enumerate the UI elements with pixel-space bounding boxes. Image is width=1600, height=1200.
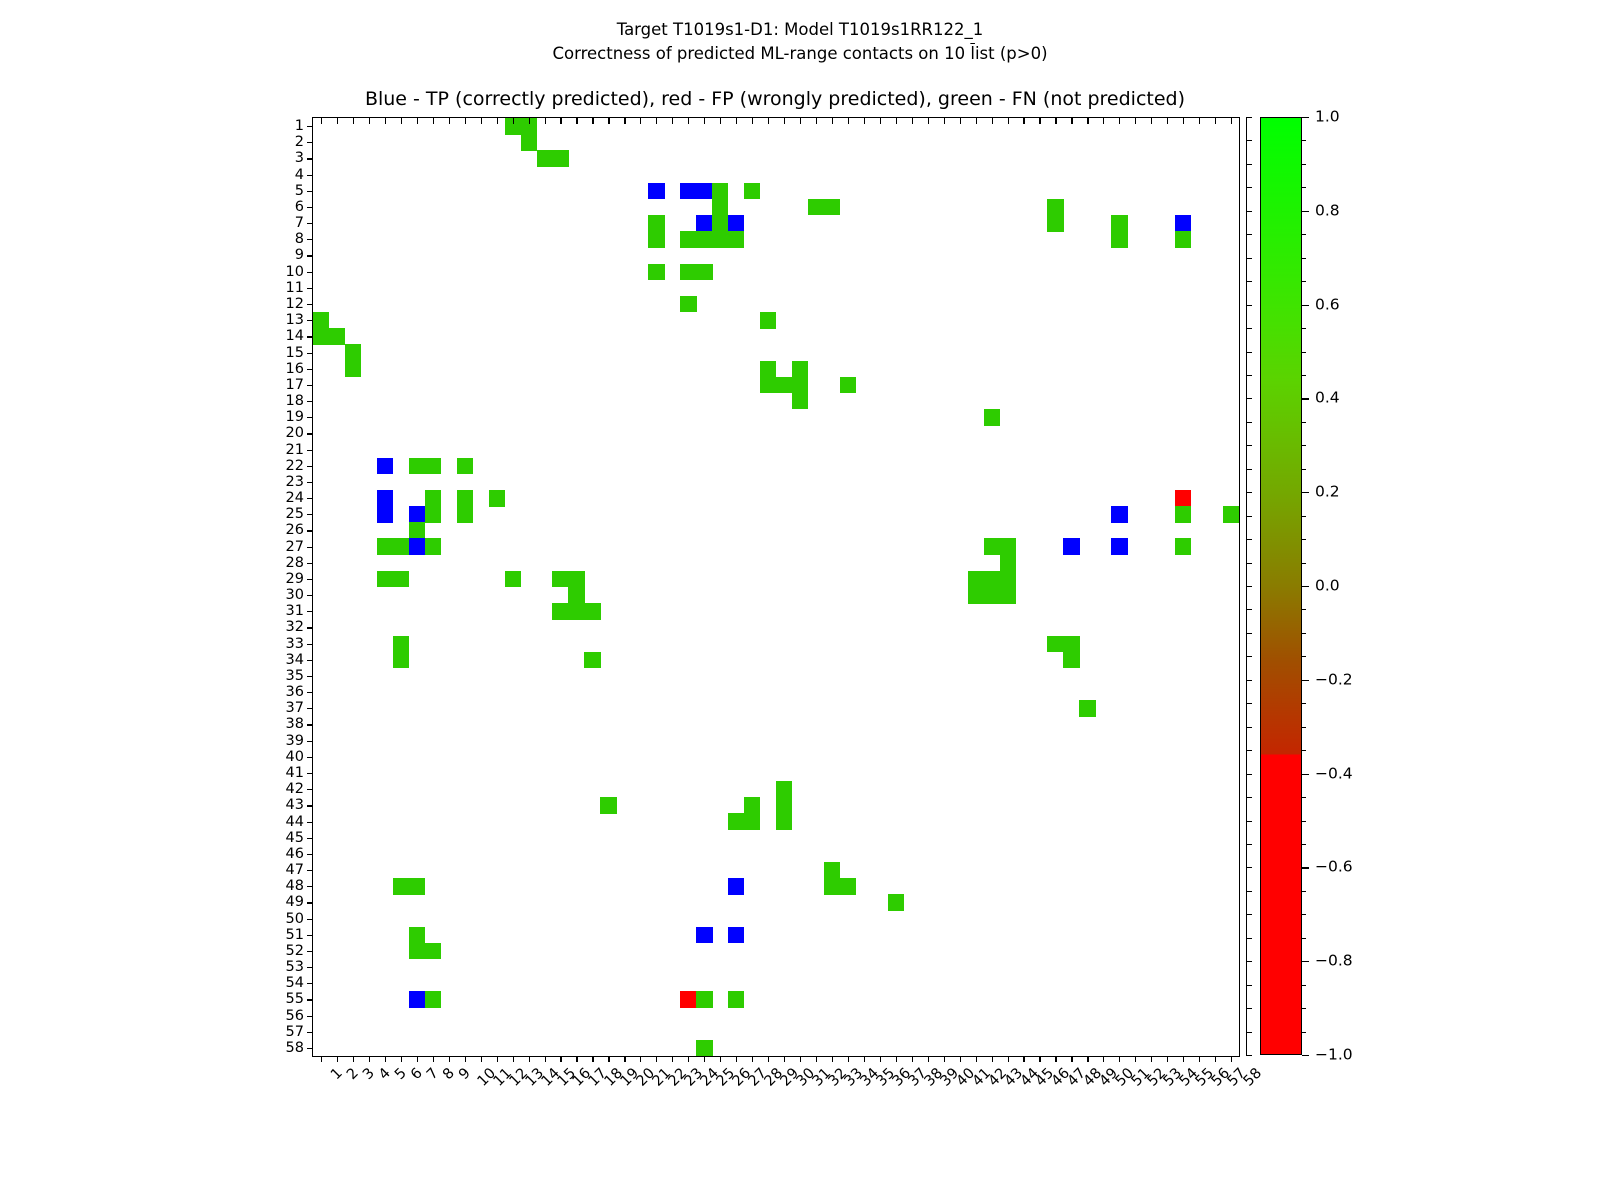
contact-cell-tp xyxy=(696,183,712,200)
contact-cell-fn xyxy=(712,199,728,216)
y-tick-label: 50 xyxy=(286,911,304,926)
contact-cell-fn xyxy=(728,813,744,830)
y-tick-label: 37 xyxy=(286,701,304,716)
contact-cell-fn xyxy=(409,522,425,539)
colorbar-minor-tick xyxy=(1302,492,1306,493)
colorbar-minor-tick xyxy=(1302,891,1306,892)
y-tick xyxy=(307,255,313,256)
x-tick xyxy=(656,1056,657,1062)
x-tick xyxy=(688,1056,689,1062)
y-tick-label: 42 xyxy=(286,782,304,797)
colorbar-minor-tick xyxy=(1302,398,1306,399)
colorbar-minor-tick xyxy=(1302,985,1306,986)
contact-cell-fn xyxy=(1175,538,1191,555)
x-tick xyxy=(1215,1056,1216,1062)
contact-cell-fn xyxy=(968,571,984,588)
contact-cell-fn xyxy=(744,183,760,200)
contact-cell-fn xyxy=(760,312,776,329)
y-tick-label: 32 xyxy=(286,620,304,635)
contact-cell-fn xyxy=(393,538,409,555)
y-tick xyxy=(307,223,313,224)
colorbar-minor-tick xyxy=(1302,633,1306,634)
contact-cell-fn xyxy=(457,458,473,475)
contact-cell-fn xyxy=(744,797,760,814)
y-tick xyxy=(307,692,313,693)
y-tick xyxy=(307,158,313,159)
y-tick xyxy=(307,239,313,240)
y-tick xyxy=(307,935,313,936)
contact-cell-fn xyxy=(568,587,584,604)
y-tick-label: 58 xyxy=(286,1041,304,1056)
contact-cell-fn xyxy=(776,813,792,830)
colorbar-minor-tick xyxy=(1302,938,1306,939)
x-tick-top xyxy=(497,118,498,124)
y-tick-label: 22 xyxy=(286,458,304,473)
colorbar-minor-tick xyxy=(1302,914,1306,915)
contact-cell-fn xyxy=(680,231,696,248)
y-tick-label: 5 xyxy=(295,184,304,199)
x-tick xyxy=(417,1056,418,1062)
x-tick-top xyxy=(864,118,865,124)
y-tick-label: 53 xyxy=(286,960,304,975)
x-tick-top xyxy=(768,118,769,124)
colorbar-minor-tick xyxy=(1302,352,1306,353)
colorbar-minor-tick xyxy=(1302,1008,1306,1009)
contact-cell-fn xyxy=(648,231,664,248)
x-tick-top xyxy=(353,118,354,124)
x-tick-top xyxy=(1023,118,1024,124)
contact-cell-fn xyxy=(425,991,441,1008)
colorbar-outer-tick xyxy=(1246,398,1252,399)
colorbar-minor-tick xyxy=(1302,469,1306,470)
y-tick xyxy=(307,660,313,661)
colorbar-outer-tick xyxy=(1246,586,1252,587)
contact-cell-fn xyxy=(792,393,808,410)
y-tick-label: 49 xyxy=(286,895,304,910)
x-tick-top xyxy=(944,118,945,124)
y-tick xyxy=(307,838,313,839)
contact-cell-fn xyxy=(457,490,473,507)
y-tick-label: 48 xyxy=(286,879,304,894)
y-tick-label: 56 xyxy=(286,1008,304,1023)
x-tick-top xyxy=(1151,118,1152,124)
y-tick-label: 46 xyxy=(286,847,304,862)
x-tick-top xyxy=(736,118,737,124)
contact-cell-tp xyxy=(377,458,393,475)
contact-cell-fn xyxy=(425,490,441,507)
y-tick xyxy=(307,142,313,143)
colorbar-minor-tick xyxy=(1302,140,1306,141)
figure-title-line2-part3: ist (p>0) xyxy=(975,44,1048,63)
y-tick xyxy=(307,999,313,1000)
contact-cell-fn xyxy=(1047,636,1063,653)
colorbar-gradient xyxy=(1260,117,1302,1055)
x-tick-top xyxy=(560,118,561,124)
contact-cell-fn xyxy=(1175,506,1191,523)
y-tick-label: 10 xyxy=(286,264,304,279)
contact-cell-fn xyxy=(1047,199,1063,216)
colorbar-outer-tick xyxy=(1246,821,1252,822)
y-tick xyxy=(307,757,313,758)
y-tick xyxy=(307,530,313,531)
colorbar-minor-tick xyxy=(1302,821,1306,822)
x-tick xyxy=(608,1056,609,1062)
contact-cell-fn xyxy=(1047,215,1063,232)
colorbar-outer-tick xyxy=(1246,914,1252,915)
figure-title-line1: Target T1019s1-D1: Model T1019s1RR122_1 xyxy=(0,18,1600,42)
contact-cell-fn xyxy=(840,878,856,895)
contact-cell-fn xyxy=(425,943,441,960)
colorbar-minor-tick xyxy=(1302,680,1306,681)
x-tick-top xyxy=(592,118,593,124)
x-tick xyxy=(337,1056,338,1062)
y-tick-label: 20 xyxy=(286,426,304,441)
x-tick xyxy=(1167,1056,1168,1062)
contact-cell-fn xyxy=(425,506,441,523)
y-tick-label: 25 xyxy=(286,507,304,522)
contact-cell-fn xyxy=(824,878,840,895)
colorbar-outer-tick xyxy=(1246,234,1252,235)
x-tick xyxy=(385,1056,386,1062)
x-tick xyxy=(1135,1056,1136,1062)
colorbar-outer-tick xyxy=(1246,774,1252,775)
y-tick-label: 7 xyxy=(295,216,304,231)
x-tick xyxy=(1055,1056,1056,1062)
y-tick-label: 28 xyxy=(286,555,304,570)
contact-cell-tp xyxy=(696,927,712,944)
colorbar-tick-label: −0.6 xyxy=(1315,860,1353,876)
colorbar-minor-tick xyxy=(1302,563,1306,564)
y-tick-label: 2 xyxy=(295,135,304,150)
x-tick xyxy=(1087,1056,1088,1062)
contact-cell-fn xyxy=(489,490,505,507)
x-tick xyxy=(592,1056,593,1062)
y-tick-label: 11 xyxy=(286,281,304,296)
y-tick xyxy=(307,886,313,887)
contact-cell-tp xyxy=(728,215,744,232)
contact-cell-tp xyxy=(1111,538,1127,555)
colorbar-outer-tick xyxy=(1246,727,1252,728)
colorbar-minor-tick xyxy=(1302,305,1306,306)
y-tick-label: 15 xyxy=(286,345,304,360)
colorbar-outer-tick xyxy=(1246,164,1252,165)
y-tick xyxy=(307,466,313,467)
colorbar-outer-tick xyxy=(1246,961,1252,962)
colorbar-minor-tick xyxy=(1302,258,1306,259)
colorbar-tick-label: −0.2 xyxy=(1315,672,1353,688)
contact-cell-fn xyxy=(505,571,521,588)
contact-cell-fn xyxy=(552,571,568,588)
contact-cell-fn xyxy=(457,506,473,523)
x-tick-label: 3 xyxy=(361,1066,378,1083)
x-tick xyxy=(1008,1056,1009,1062)
contact-cell-fn xyxy=(1063,652,1079,669)
colorbar-tick-label: 1.0 xyxy=(1315,109,1340,125)
x-tick xyxy=(912,1056,913,1062)
y-tick xyxy=(307,676,313,677)
x-tick-top xyxy=(545,118,546,124)
colorbar-minor-tick xyxy=(1302,1032,1306,1033)
y-tick xyxy=(307,320,313,321)
figure-title-line2-part1: Correctness of predicted ML-range contac… xyxy=(552,44,970,63)
contact-cell-fn xyxy=(1175,231,1191,248)
y-tick-label: 1 xyxy=(295,119,304,134)
figure-title-line2: Correctness of predicted ML-range contac… xyxy=(0,42,1600,66)
x-tick xyxy=(944,1056,945,1062)
x-tick xyxy=(433,1056,434,1062)
contact-cell-tp xyxy=(1063,538,1079,555)
x-tick-top xyxy=(1167,118,1168,124)
contact-cell-fn xyxy=(329,328,345,345)
x-tick xyxy=(321,1056,322,1062)
contact-cell-fn xyxy=(696,1040,712,1056)
colorbar-outer-tick xyxy=(1246,211,1252,212)
contact-cell-fn xyxy=(648,215,664,232)
x-tick-label: 2 xyxy=(345,1066,362,1083)
x-tick-top xyxy=(640,118,641,124)
colorbar-minor-tick xyxy=(1302,516,1306,517)
contact-cell-tp xyxy=(409,991,425,1008)
y-tick xyxy=(307,611,313,612)
contact-cell-fp xyxy=(680,991,696,1008)
contact-cell-fp xyxy=(1175,490,1191,507)
colorbar-outer-tick xyxy=(1246,633,1252,634)
x-tick xyxy=(1151,1056,1152,1062)
colorbar-tick-label: −0.8 xyxy=(1315,953,1353,969)
contact-cell-fn xyxy=(393,878,409,895)
colorbar-outer-tick xyxy=(1246,750,1252,751)
contact-cell-fn xyxy=(840,377,856,394)
contact-cell-fn xyxy=(584,652,600,669)
x-tick-top xyxy=(688,118,689,124)
colorbar-outer-tick xyxy=(1246,258,1252,259)
colorbar-minor-tick xyxy=(1302,1055,1306,1056)
contact-cell-tp xyxy=(377,506,393,523)
y-tick xyxy=(307,967,313,968)
y-tick-label: 40 xyxy=(286,750,304,765)
y-tick xyxy=(307,514,313,515)
y-tick-label: 23 xyxy=(286,475,304,490)
x-tick-top xyxy=(912,118,913,124)
y-tick xyxy=(307,1032,313,1033)
contact-cell-fn xyxy=(521,134,537,151)
y-tick xyxy=(307,369,313,370)
colorbar-minor-tick xyxy=(1302,234,1306,235)
colorbar-outer-tick xyxy=(1246,445,1252,446)
x-tick xyxy=(672,1056,673,1062)
contact-cell-fn xyxy=(792,361,808,378)
contact-cell-fn xyxy=(313,328,329,345)
y-tick-label: 52 xyxy=(286,944,304,959)
contact-cell-fn xyxy=(984,409,1000,426)
x-tick xyxy=(784,1056,785,1062)
x-tick-top xyxy=(1231,118,1232,124)
colorbar-minor-tick xyxy=(1302,867,1306,868)
y-tick xyxy=(307,126,313,127)
y-tick-label: 16 xyxy=(286,361,304,376)
contact-cell-fn xyxy=(696,264,712,281)
contact-cell-fn xyxy=(393,652,409,669)
y-tick-label: 12 xyxy=(286,297,304,312)
colorbar-outer-tick xyxy=(1246,891,1252,892)
colorbar-outer-tick xyxy=(1246,985,1252,986)
y-tick xyxy=(307,547,313,548)
y-tick xyxy=(307,482,313,483)
x-tick xyxy=(736,1056,737,1062)
y-tick-label: 19 xyxy=(286,410,304,425)
colorbar-minor-tick xyxy=(1302,164,1306,165)
y-tick xyxy=(307,854,313,855)
contact-cell-fn xyxy=(409,943,425,960)
contact-cell-fn xyxy=(552,150,568,167)
contact-cell-fn xyxy=(680,296,696,313)
x-tick-top xyxy=(1087,118,1088,124)
y-tick xyxy=(307,498,313,499)
x-tick-top xyxy=(1055,118,1056,124)
y-tick xyxy=(307,644,313,645)
colorbar-outer-tick xyxy=(1246,844,1252,845)
x-tick-top xyxy=(896,118,897,124)
x-tick-top xyxy=(513,118,514,124)
contact-map-cells xyxy=(313,118,1239,1056)
axes-legend-title: Blue - TP (correctly predicted), red - F… xyxy=(312,88,1238,110)
y-tick xyxy=(307,207,313,208)
x-tick-top xyxy=(816,118,817,124)
x-tick xyxy=(497,1056,498,1062)
x-tick-top xyxy=(992,118,993,124)
contact-cell-fn xyxy=(792,377,808,394)
x-tick xyxy=(1103,1056,1104,1062)
colorbar-outer-tick xyxy=(1246,140,1252,141)
contact-cell-fn xyxy=(776,377,792,394)
contact-cell-fn xyxy=(409,878,425,895)
colorbar-minor-tick xyxy=(1302,539,1306,540)
x-tick xyxy=(353,1056,354,1062)
colorbar-tick-label: 0.2 xyxy=(1315,484,1340,500)
contact-cell-fn xyxy=(712,183,728,200)
colorbar-minor-tick xyxy=(1302,586,1306,587)
x-tick xyxy=(800,1056,801,1062)
x-tick-top xyxy=(656,118,657,124)
y-tick-label: 18 xyxy=(286,394,304,409)
x-tick xyxy=(896,1056,897,1062)
contact-cell-tp xyxy=(728,927,744,944)
y-tick-label: 6 xyxy=(295,200,304,215)
contact-cell-fn xyxy=(1063,636,1079,653)
contact-cell-tp xyxy=(728,878,744,895)
x-tick-top xyxy=(369,118,370,124)
y-tick-label: 3 xyxy=(295,151,304,166)
colorbar: 1.00.80.60.40.20.0−0.2−0.4−0.6−0.8−1.0 xyxy=(1260,117,1302,1055)
x-tick xyxy=(816,1056,817,1062)
colorbar-outer-tick xyxy=(1246,539,1252,540)
y-tick xyxy=(307,741,313,742)
x-tick xyxy=(513,1056,514,1062)
x-tick xyxy=(369,1056,370,1062)
x-tick xyxy=(720,1056,721,1062)
y-tick xyxy=(307,288,313,289)
contact-cell-fn xyxy=(1000,587,1016,604)
contact-cell-fn xyxy=(1079,700,1095,717)
y-tick xyxy=(307,805,313,806)
x-tick-top xyxy=(608,118,609,124)
y-tick-label: 21 xyxy=(286,442,304,457)
x-tick xyxy=(640,1056,641,1062)
x-tick-label: 7 xyxy=(424,1066,441,1083)
colorbar-minor-tick xyxy=(1302,375,1306,376)
x-tick xyxy=(1183,1056,1184,1062)
x-tick xyxy=(401,1056,402,1062)
contact-cell-fn xyxy=(888,894,904,911)
y-tick xyxy=(307,401,313,402)
y-tick-label: 43 xyxy=(286,798,304,813)
colorbar-minor-tick xyxy=(1302,211,1306,212)
x-tick xyxy=(1039,1056,1040,1062)
contact-cell-tp xyxy=(696,215,712,232)
colorbar-outer-tick xyxy=(1246,117,1252,118)
contact-cell-tp xyxy=(377,490,393,507)
x-tick-top xyxy=(465,118,466,124)
colorbar-outer-tick xyxy=(1246,187,1252,188)
y-tick-label: 26 xyxy=(286,523,304,538)
y-tick-label: 27 xyxy=(286,539,304,554)
contact-cell-fn xyxy=(377,571,393,588)
x-tick xyxy=(545,1056,546,1062)
contact-cell-tp xyxy=(1175,215,1191,232)
contact-cell-fn xyxy=(776,797,792,814)
y-tick xyxy=(307,870,313,871)
colorbar-outer-tick xyxy=(1246,680,1252,681)
contact-cell-tp xyxy=(680,183,696,200)
y-tick-label: 51 xyxy=(286,927,304,942)
x-tick-top xyxy=(976,118,977,124)
colorbar-minor-tick xyxy=(1302,750,1306,751)
y-tick xyxy=(307,724,313,725)
colorbar-outer-tick xyxy=(1246,516,1252,517)
x-tick xyxy=(864,1056,865,1062)
y-tick xyxy=(307,1016,313,1017)
y-tick-label: 4 xyxy=(295,167,304,182)
y-tick-label: 24 xyxy=(286,491,304,506)
x-tick-top xyxy=(576,118,577,124)
colorbar-tick-label: 0.8 xyxy=(1315,203,1340,219)
colorbar-outer-tick xyxy=(1246,867,1252,868)
x-tick-top xyxy=(417,118,418,124)
contact-cell-fn xyxy=(1111,231,1127,248)
contact-cell-fn xyxy=(744,813,760,830)
contact-cell-tp xyxy=(1111,506,1127,523)
x-tick-top xyxy=(960,118,961,124)
y-tick-label: 31 xyxy=(286,604,304,619)
colorbar-minor-tick xyxy=(1302,774,1306,775)
contact-cell-fn xyxy=(968,587,984,604)
y-tick xyxy=(307,353,313,354)
colorbar-outer-tick xyxy=(1246,305,1252,306)
contact-cell-fn xyxy=(409,458,425,475)
contact-cell-fn xyxy=(1223,506,1239,523)
x-tick-top xyxy=(449,118,450,124)
y-tick-label: 14 xyxy=(286,329,304,344)
x-tick xyxy=(976,1056,977,1062)
x-tick-top xyxy=(704,118,705,124)
x-tick-top xyxy=(832,118,833,124)
y-tick-label: 44 xyxy=(286,814,304,829)
colorbar-tick-label: 0.0 xyxy=(1315,578,1340,594)
y-tick xyxy=(307,983,313,984)
colorbar-minor-tick xyxy=(1302,703,1306,704)
x-tick xyxy=(449,1056,450,1062)
contact-cell-fn xyxy=(537,150,553,167)
